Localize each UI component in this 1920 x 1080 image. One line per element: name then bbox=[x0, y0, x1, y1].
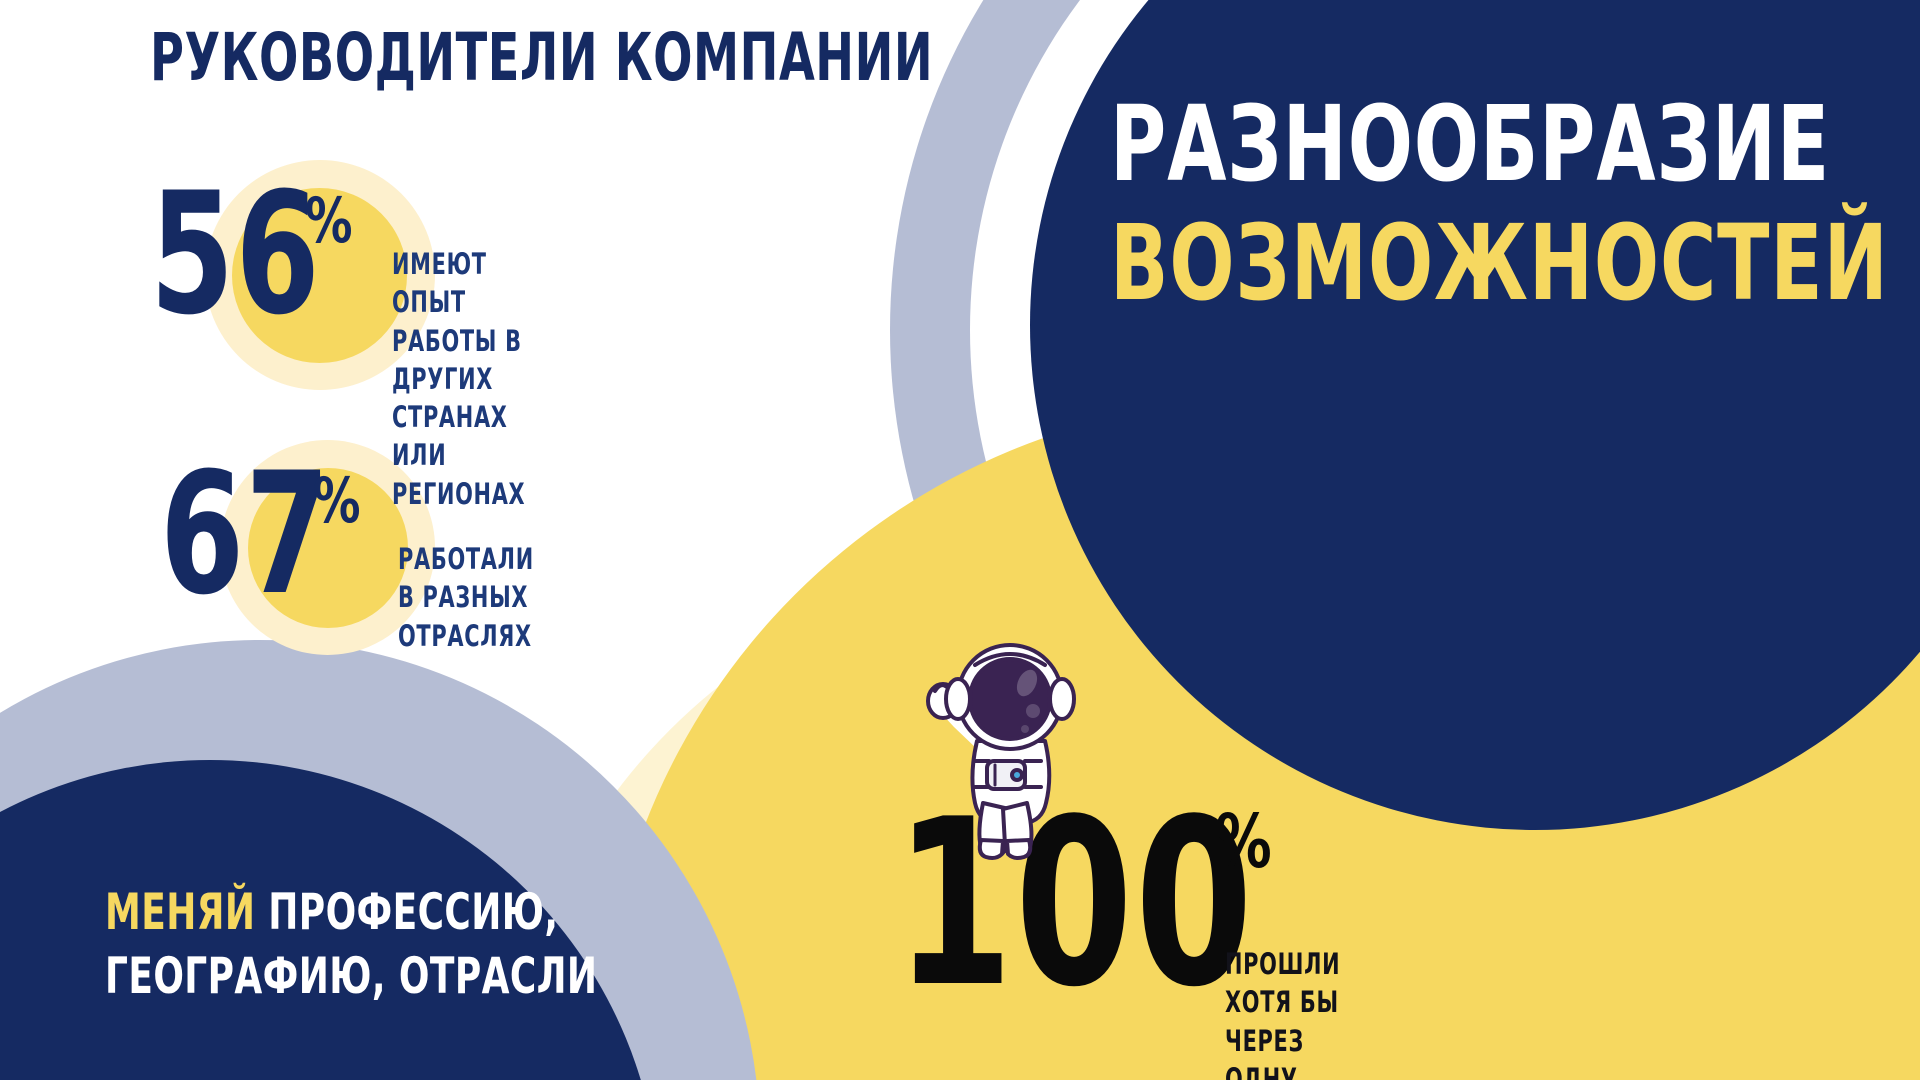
stat-value-56: 56 bbox=[150, 170, 321, 338]
stat-description-100: ПРОШЛИ ХОТЯ БЫ ЧЕРЕЗ ОДНУ СМЕНУ ПРОФЕССИ… bbox=[1225, 945, 1382, 1080]
callout-line-2: ГЕОГРАФИЮ, ОТРАСЛИ bbox=[105, 944, 597, 1008]
callout-line-1-rest: ПРОФЕССИЮ, bbox=[255, 883, 558, 941]
stat-description-56: ИМЕЮТ ОПЫТ РАБОТЫ В ДРУГИХ СТРАНАХ ИЛИ Р… bbox=[392, 245, 525, 513]
stat-unit-56: % bbox=[305, 190, 353, 252]
section-title: РУКОВОДИТЕЛИ КОМПАНИИ bbox=[150, 25, 933, 91]
stat-unit-100: % bbox=[1215, 805, 1272, 879]
infographic-poster: РУКОВОДИТЕЛИ КОМПАНИИ 56 % ИМЕЮТ ОПЫТ РА… bbox=[0, 0, 1920, 1080]
callout-line-1: МЕНЯЙ ПРОФЕССИЮ, bbox=[105, 880, 597, 944]
callout-accent-word: МЕНЯЙ bbox=[105, 883, 255, 941]
headline-line-2: ВОЗМОЖНОСТЕЙ bbox=[1110, 204, 1889, 323]
headline: РАЗНООБРАЗИЕ ВОЗМОЖНОСТЕЙ bbox=[1110, 85, 1920, 322]
astronaut-icon bbox=[905, 635, 1115, 865]
stat-value-67: 67 bbox=[160, 450, 331, 618]
headline-line-1: РАЗНООБРАЗИЕ bbox=[1110, 85, 1889, 204]
stat-unit-67: % bbox=[313, 470, 361, 532]
stat-description-67: РАБОТАЛИ В РАЗНЫХ ОТРАСЛЯХ bbox=[398, 540, 534, 655]
callout: МЕНЯЙ ПРОФЕССИЮ, ГЕОГРАФИЮ, ОТРАСЛИ bbox=[105, 880, 721, 1008]
